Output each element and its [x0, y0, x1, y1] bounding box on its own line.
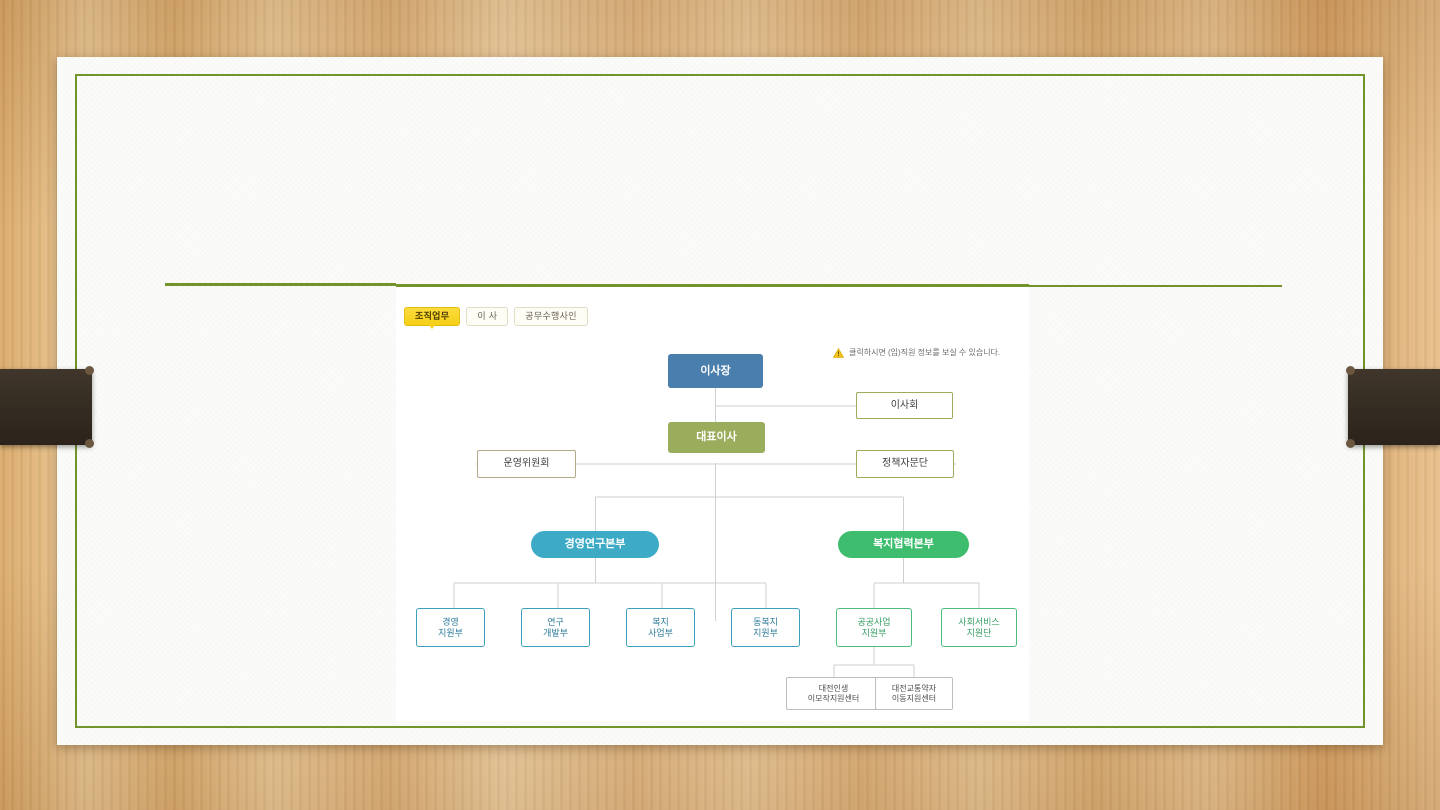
node-board-of-directors[interactable]: 이사회: [856, 392, 953, 419]
dept-label-line1: 연구: [547, 617, 564, 627]
dept-label-line1: 공공사업: [857, 617, 890, 627]
node-policy-advisory-group[interactable]: 정책자문단: [856, 450, 954, 478]
node-dept-community-welfare-support[interactable]: 동복지 지원부: [731, 608, 800, 647]
dept-label-line2: 지원부: [753, 628, 778, 638]
node-steering-committee[interactable]: 운영위원회: [477, 450, 576, 478]
notice-text: 클릭하시면 (임)직원 정보를 보실 수 있습니다.: [849, 347, 1000, 358]
node-division-welfare-cooperation[interactable]: 복지협력본부: [838, 531, 969, 558]
node-ceo[interactable]: 대표이사: [668, 422, 765, 453]
dept-label-line2: 사업부: [648, 628, 673, 638]
center-label-line2: 이동지원센터: [892, 694, 936, 703]
org-chart-panel: 조직업무 이 사 공무수행사인 클릭하시면 (임)직원 정보를 보실 수 있습니…: [396, 287, 1029, 722]
node-dept-management-support[interactable]: 경영 지원부: [416, 608, 485, 647]
ribbon-banner-right: [1348, 369, 1440, 445]
node-dept-welfare-business[interactable]: 복지 사업부: [626, 608, 695, 647]
dept-label-line1: 사회서비스: [958, 617, 999, 627]
dept-label-line1: 복지: [652, 617, 669, 627]
node-dept-social-service-support[interactable]: 사회서비스 지원단: [941, 608, 1017, 647]
divider-rule-right: [1029, 285, 1282, 287]
tab-official-seal[interactable]: 공무수행사인: [514, 307, 587, 326]
warning-icon: [833, 348, 844, 358]
center-label-line1: 대전인생: [819, 684, 848, 693]
node-dept-public-business-support[interactable]: 공공사업 지원부: [836, 608, 912, 647]
tab-bar: 조직업무 이 사 공무수행사인: [404, 307, 588, 326]
dept-label-line2: 지원단: [967, 628, 992, 638]
dept-label-line2: 지원부: [862, 628, 887, 638]
node-division-management-research[interactable]: 경영연구본부: [531, 531, 659, 558]
center-label-line1: 대전교통약자: [892, 684, 936, 693]
ribbon-banner-left: [0, 369, 92, 445]
node-chairman[interactable]: 이사장: [668, 354, 763, 388]
node-dept-research-development[interactable]: 연구 개발부: [521, 608, 590, 647]
tab-directors[interactable]: 이 사: [466, 307, 508, 326]
dept-label-line2: 지원부: [438, 628, 463, 638]
node-center-daejeon-second-career[interactable]: 대전인생 이모작지원센터: [786, 677, 881, 710]
divider-rule-left: [165, 283, 396, 286]
node-center-daejeon-mobility-support[interactable]: 대전교통약자 이동지원센터: [875, 677, 953, 710]
click-info-notice: 클릭하시면 (임)직원 정보를 보실 수 있습니다.: [833, 347, 1000, 358]
center-label-line2: 이모작지원센터: [808, 694, 860, 703]
dept-label-line1: 경영: [442, 617, 459, 627]
dept-label-line1: 동복지: [753, 617, 778, 627]
tab-organization-duties[interactable]: 조직업무: [404, 307, 460, 326]
dept-label-line2: 개발부: [543, 628, 568, 638]
